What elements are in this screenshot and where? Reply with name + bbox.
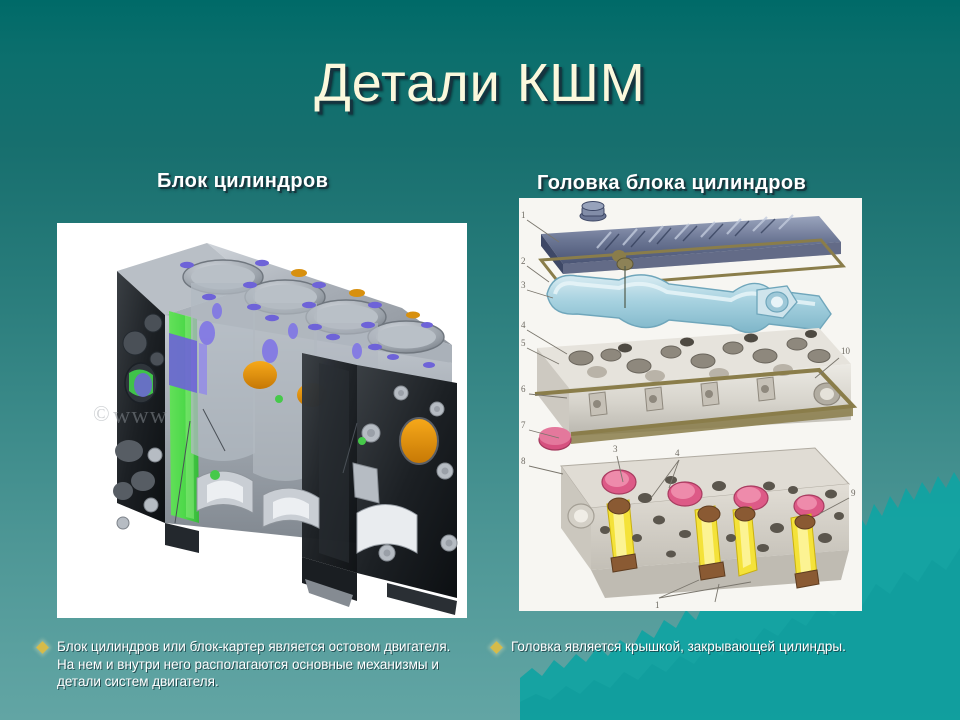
svg-text:4: 4	[675, 448, 680, 458]
bullet-text: Блок цилиндров или блок-картер является …	[57, 638, 468, 691]
svg-text:1: 1	[521, 210, 526, 220]
svg-text:10: 10	[841, 346, 851, 356]
slide: Детали КШМ Блок цилиндров	[0, 0, 960, 720]
svg-text:8: 8	[521, 456, 526, 466]
diamond-bullet-icon	[36, 641, 49, 654]
bullet-cylinder-block: Блок цилиндров или блок-картер является …	[38, 638, 468, 691]
bullet-cylinder-head: Головка является крышкой, закрывающей ци…	[492, 638, 912, 656]
bullet-text: Головка является крышкой, закрывающей ци…	[511, 638, 846, 656]
svg-text:www: www	[113, 403, 168, 429]
cylinder-head-image: 1 2 3 4 5 6 7 8 3 4 10 9 1	[519, 198, 862, 611]
section-heading-cylinder-head: Головка блока цилиндров	[537, 172, 806, 195]
svg-text:9: 9	[851, 488, 856, 498]
diamond-bullet-icon	[490, 641, 503, 654]
svg-text:1: 1	[655, 600, 660, 610]
svg-text:3: 3	[613, 444, 618, 454]
svg-text:2: 2	[521, 256, 526, 266]
svg-text:©: ©	[93, 401, 110, 426]
svg-text:7: 7	[521, 420, 526, 430]
page-title: Детали КШМ	[0, 52, 960, 114]
svg-text:4: 4	[521, 320, 526, 330]
svg-text:3: 3	[521, 280, 526, 290]
svg-text:5: 5	[521, 338, 526, 348]
section-heading-cylinder-block: Блок цилиндров	[157, 170, 328, 193]
cylinder-block-image: © www	[57, 223, 467, 618]
svg-text:6: 6	[521, 384, 526, 394]
